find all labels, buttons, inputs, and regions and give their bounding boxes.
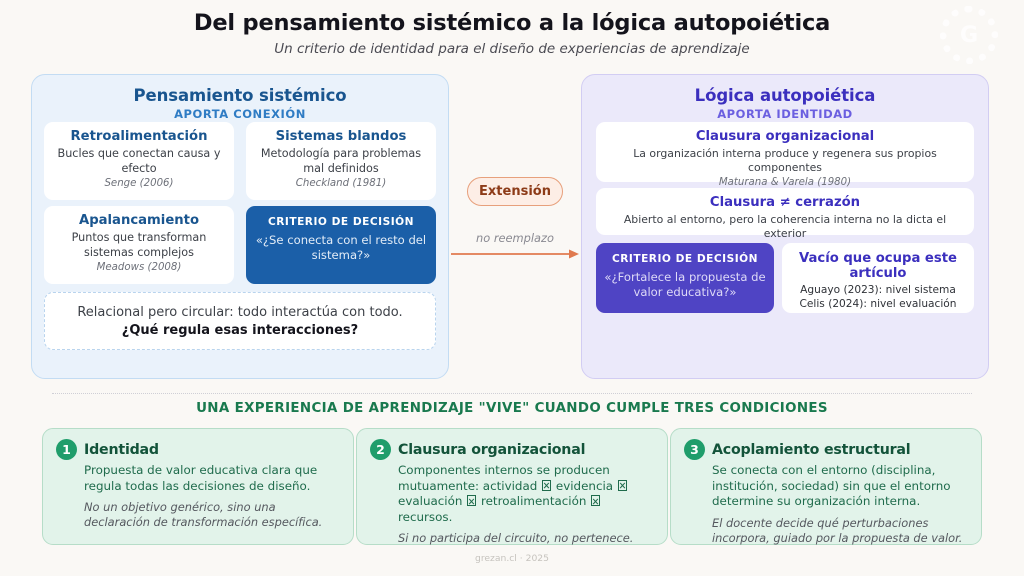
decision-question: «¿Fortalece la propuesta de valor educat… [604,270,766,300]
card-description: Metodología para problemas mal definidos [254,147,428,176]
decision-criterion-autopoietic: CRITERIO DE DECISIÓN «¿Fortalece la prop… [596,243,774,313]
card-clausura-organizacional: Clausura organizacional La organización … [596,122,974,182]
condition-title: Clausura organizacional [398,442,585,458]
condition-body: Se conecta con el entorno (disciplina, i… [684,463,968,510]
card-description: Puntos que transforman sistemas complejo… [52,231,226,260]
condition-body-part-5: recursos. [398,510,452,524]
missing-glyph-icon [542,480,551,491]
extension-label: Extensión [479,184,551,199]
card-title: Retroalimentación [52,129,226,144]
condition-title-row: 1 Identidad [56,439,340,460]
card-title: Sistemas blandos [254,129,428,144]
note-line-1: Relacional pero circular: todo interactú… [77,305,402,320]
decision-criterion-systemic: CRITERIO DE DECISIÓN «¿Se conecta con el… [246,206,436,284]
card-source: Meadows (2008) [52,261,226,274]
right-panel-heading: Lógica autopoiética [582,86,988,105]
condition-title-row: 3 Acoplamiento estructural [684,439,968,460]
condition-body-part-3: evaluación [398,494,466,508]
condition-card-clausura-organizacional: 2 Clausura organizacional Componentes in… [356,428,668,545]
card-clausura-no-cerrazon: Clausura ≠ cerrazón Abierto al entorno, … [596,188,974,235]
card-retroalimentacion: Retroalimentación Bucles que conectan ca… [44,122,234,200]
card-title: Apalancamiento [52,213,226,228]
left-panel-subheading: APORTA CONEXIÓN [32,107,448,121]
condition-body-part-2: evidencia [552,479,617,493]
left-panel-header: Pensamiento sistémico APORTA CONEXIÓN [32,75,448,121]
card-description: La organización interna produce y regene… [604,147,966,175]
condition-footnote: El docente decide qué perturbaciones inc… [684,516,968,546]
section-divider [52,393,972,394]
note-line-2: ¿Qué regula esas interacciones? [122,323,358,338]
condition-title-row: 2 Clausura organizacional [370,439,654,460]
panel-pensamiento-sistemico: Pensamiento sistémico APORTA CONEXIÓN Re… [31,74,449,379]
card-sistemas-blandos: Sistemas blandos Metodología para proble… [246,122,436,200]
missing-glyph-icon [618,480,627,491]
condition-footnote: Si no participa del circuito, no pertene… [370,531,654,546]
card-title: Clausura ≠ cerrazón [604,195,966,210]
card-source: Senge (2006) [52,177,226,190]
left-panel-heading: Pensamiento sistémico [32,86,448,105]
extension-badge: Extensión [467,177,563,206]
condition-card-identidad: 1 Identidad Propuesta de valor educativa… [42,428,354,545]
panel-logica-autopoietica: Lógica autopoiética APORTA IDENTIDAD Cla… [581,74,989,379]
right-panel-subheading: APORTA IDENTIDAD [582,107,988,121]
condition-number-badge: 1 [56,439,77,460]
decision-question: «¿Se conecta con el resto del sistema?» [254,233,428,263]
decision-label: CRITERIO DE DECISIÓN [604,253,766,265]
card-description: Aguayo (2023): nivel sistema Celis (2024… [790,284,966,312]
card-description: Abierto al entorno, pero la coherencia i… [604,213,966,241]
condition-footnote: No un objetivo genérico, sino una declar… [56,500,340,530]
condition-body: Componentes internos se producen mutuame… [370,463,654,525]
extension-arrow-icon [451,247,581,261]
condition-card-acoplamiento-estructural: 3 Acoplamiento estructural Se conecta co… [670,428,982,545]
condition-title: Acoplamiento estructural [712,442,910,458]
footer-credit: grezan.cl · 2025 [0,553,1024,564]
card-source: Checkland (1981) [254,177,428,190]
infographic-canvas: G Del pensamiento sistémico a la lógica … [0,0,1024,576]
condition-number-badge: 3 [684,439,705,460]
card-apalancamiento: Apalancamiento Puntos que transforman si… [44,206,234,284]
missing-glyph-icon [591,495,600,506]
page-title: Del pensamiento sistémico a la lógica au… [0,10,1024,36]
connector-sublabel: no reemplazo [455,231,575,245]
left-panel-closing-note: Relacional pero circular: todo interactú… [44,292,436,350]
card-title: Vacío que ocupa este artículo [790,252,966,281]
condition-body: Propuesta de valor educativa clara que r… [56,463,340,494]
condition-number-badge: 2 [370,439,391,460]
page-subtitle: Un criterio de identidad para el diseño … [0,41,1024,57]
conditions-heading: UNA EXPERIENCIA DE APRENDIZAJE "VIVE" CU… [0,401,1024,416]
condition-body-part-4: retroalimentación [477,494,590,508]
right-panel-header: Lógica autopoiética APORTA IDENTIDAD [582,75,988,121]
card-title: Clausura organizacional [604,129,966,144]
condition-title: Identidad [84,442,159,458]
card-description: Bucles que conectan causa y efecto [52,147,226,176]
decision-label: CRITERIO DE DECISIÓN [254,216,428,228]
missing-glyph-icon [467,495,476,506]
card-vacio-que-ocupa-este-articulo: Vacío que ocupa este artículo Aguayo (20… [782,243,974,313]
